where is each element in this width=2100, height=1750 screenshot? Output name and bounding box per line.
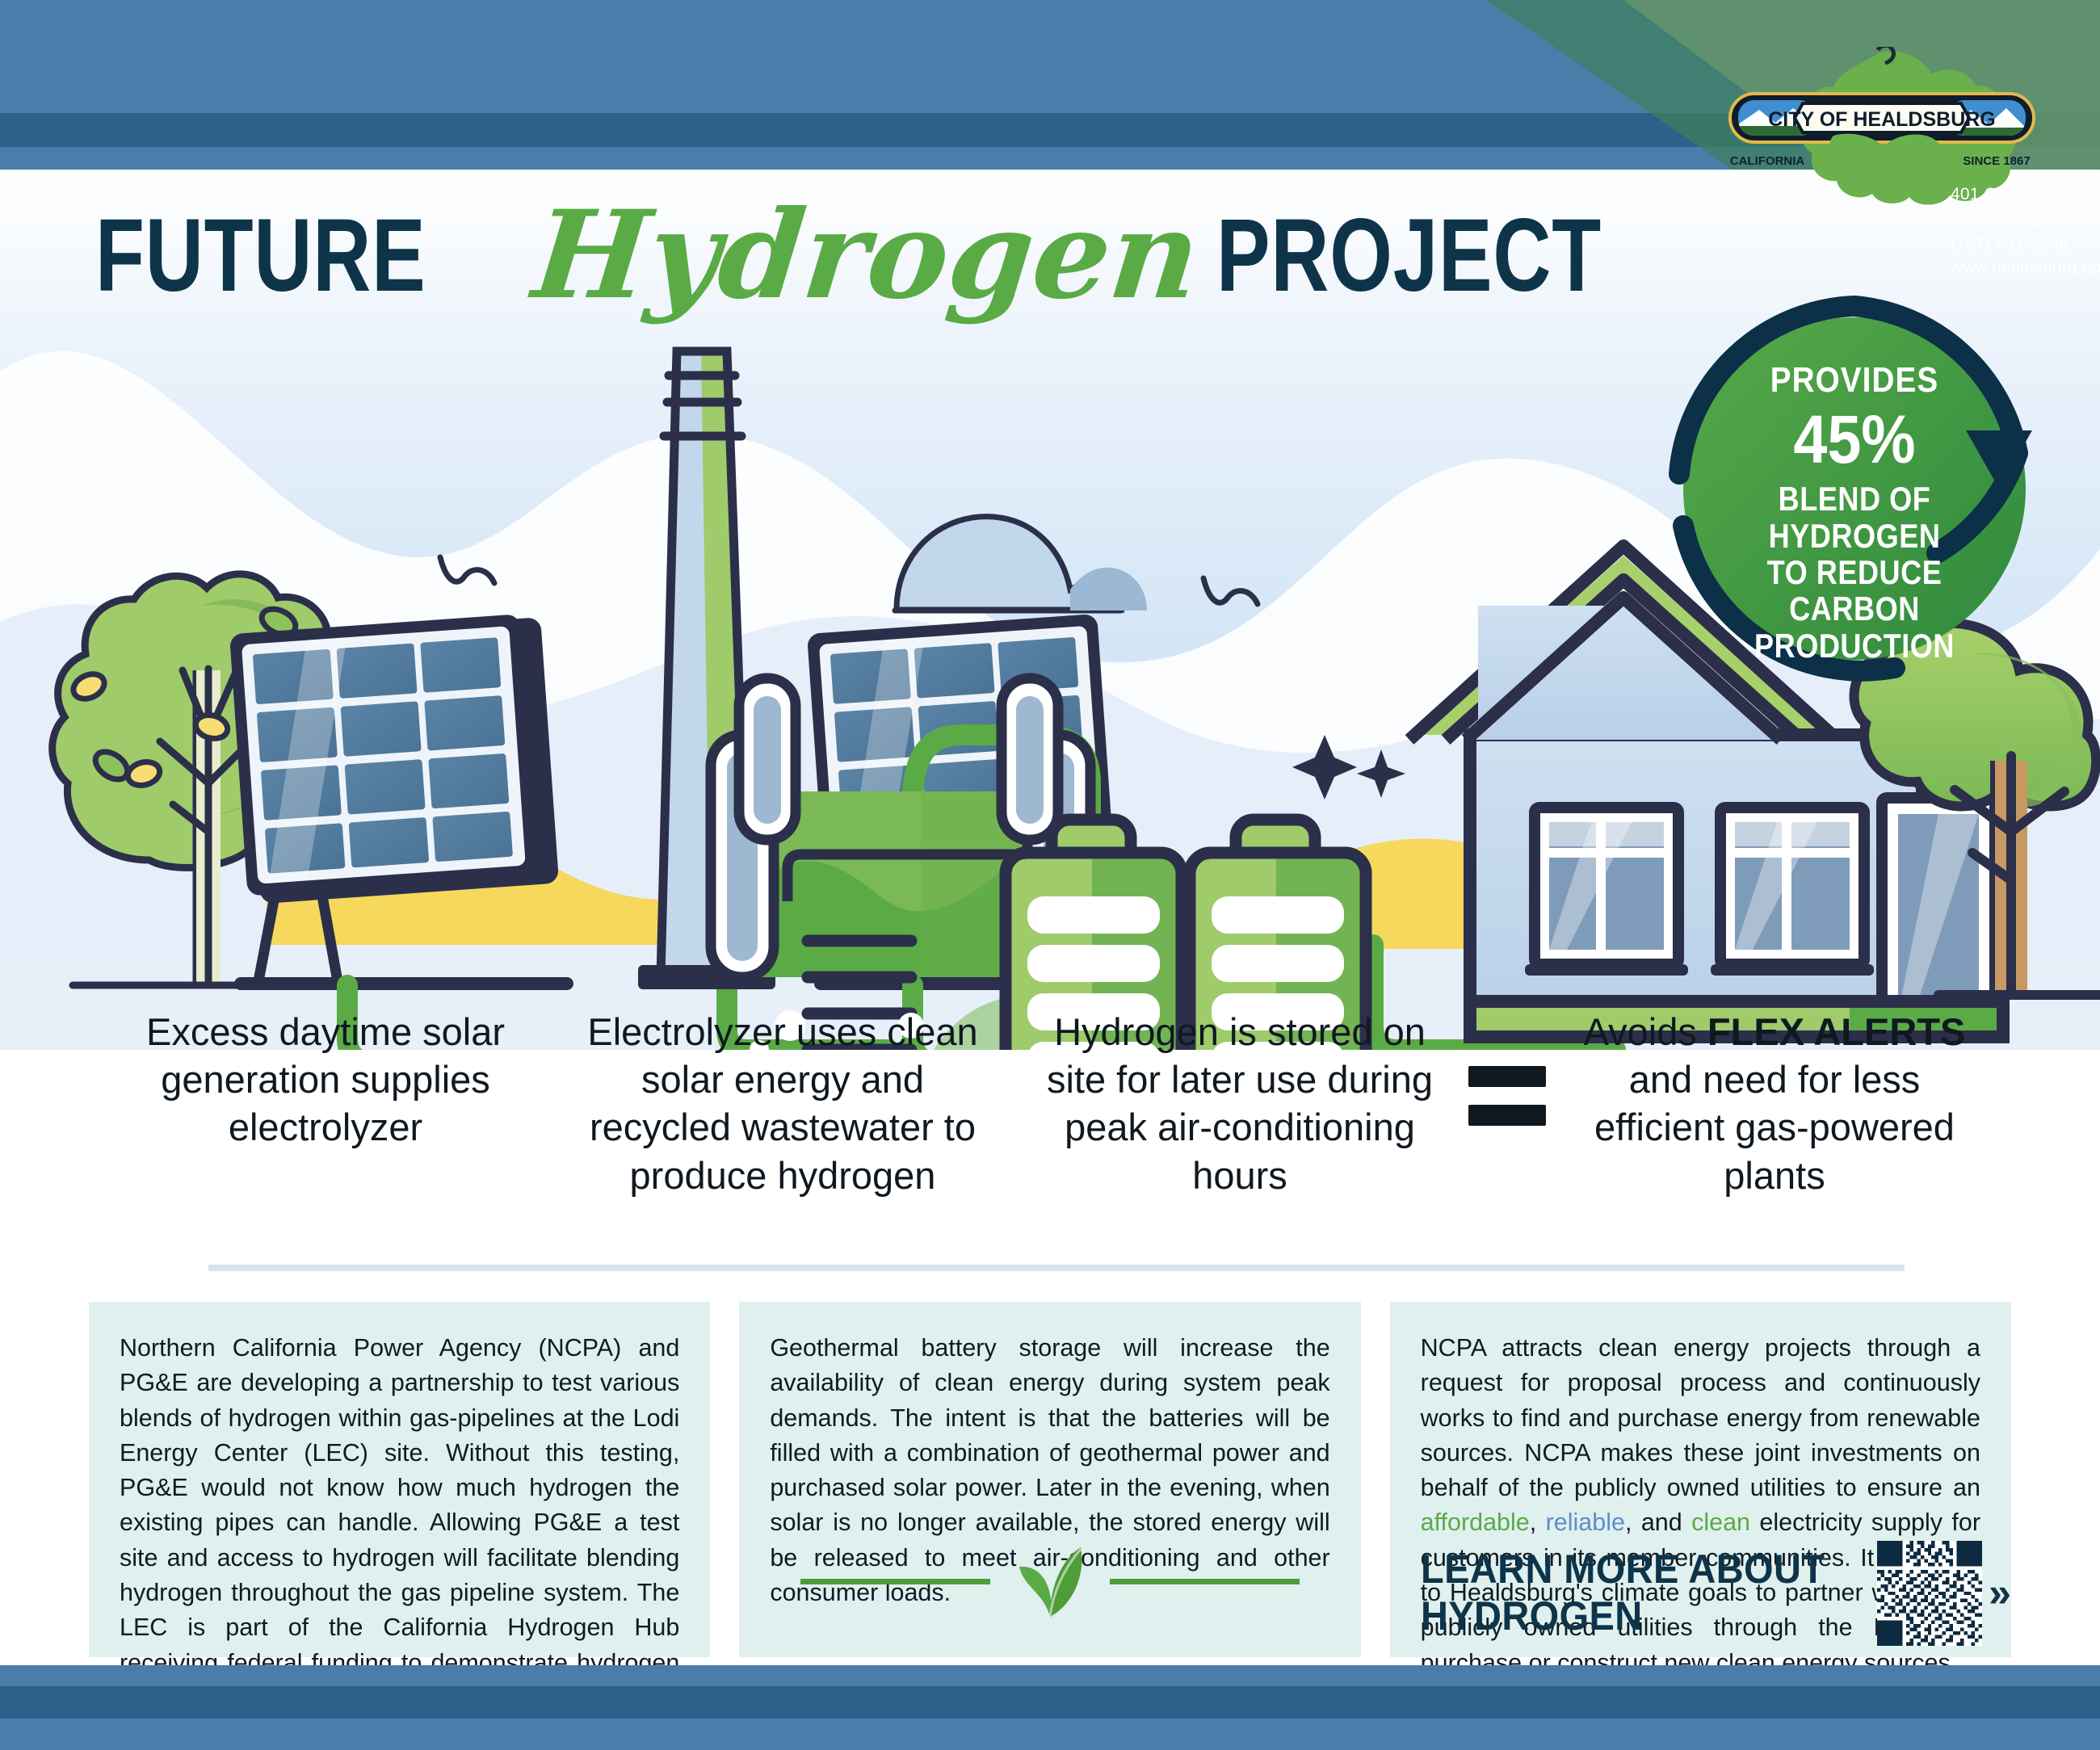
address-line-2: Healdsburg, CA 95448 [1951, 207, 2100, 231]
leaf-icon [1011, 1542, 1089, 1620]
title-word-hydrogen: Hydrogen [527, 184, 1206, 326]
caption-flex-prefix: Avoids [1584, 1010, 1707, 1053]
badge-line-provides: PROVIDES [1728, 361, 1980, 400]
bottom-band [0, 1719, 2100, 1750]
caption-flex-alerts: Avoids FLEX ALERTS and need for less eff… [1546, 1008, 2003, 1199]
card3-sep2: , and [1625, 1509, 1691, 1536]
badge-line-production: PRODUCTION [1731, 627, 1978, 664]
info-card-clean-energy: NCPA attracts clean energy projects thro… [1390, 1302, 2011, 1657]
address-website[interactable]: www.healdsburg.gov [1951, 256, 2100, 280]
address-line-1: 401 Grove Street [1951, 183, 2100, 207]
word-reliable: reliable [1546, 1509, 1625, 1536]
leaf-line-right [1110, 1579, 1300, 1584]
double-chevron-right-icon: » [1989, 1569, 2011, 1616]
city-logo-block: CITY OF HEALDSBURG CALIFORNIA SINCE 1867… [1712, 47, 2092, 249]
word-clean: clean [1691, 1509, 1750, 1536]
badge-text-block: PROVIDES 45% BLEND OF HYDROGEN TO REDUCE… [1711, 361, 1998, 664]
address-phone: (707) 431-3346 [1951, 232, 2100, 256]
bottom-band-light [0, 1665, 2100, 1686]
caption-flex-suffix: and need for less efficient gas-powered … [1594, 1058, 1955, 1196]
logo-banner-text: CITY OF HEALDSBURG [1768, 108, 1996, 131]
title-word-project: PROJECT [1216, 196, 1602, 315]
process-captions: Excess daytime solar generation supplies… [97, 1008, 2003, 1242]
word-affordable: affordable [1421, 1509, 1530, 1536]
card3-part1: NCPA attracts clean energy projects thro… [1421, 1334, 1980, 1501]
caption-solar: Excess daytime solar generation supplies… [97, 1008, 554, 1152]
caption-divider [208, 1265, 1905, 1271]
address-block: 401 Grove Street Healdsburg, CA 95448 (7… [1951, 183, 2100, 281]
badge-line-reduce: TO REDUCE CARBON [1731, 554, 1978, 627]
logo-right-caption: SINCE 1867 [1963, 154, 2030, 168]
caption-storage: Hydrogen is stored on site for later use… [1011, 1008, 1468, 1199]
learn-more-label: LEARN MORE ABOUT HYDROGEN [1421, 1546, 1938, 1639]
badge-line-blend: BLEND OF HYDROGEN [1731, 481, 1978, 554]
equals-icon [1468, 1008, 1546, 1126]
qr-code-icon[interactable] [1877, 1541, 1982, 1646]
page-title: FUTURE Hydrogen PROJECT [95, 184, 1711, 326]
bottom-band-dark [0, 1686, 2100, 1719]
card3-sep1: , [1530, 1509, 1546, 1536]
leaf-line-left [800, 1579, 990, 1584]
info-cards: Northern California Power Agency (NCPA) … [89, 1302, 2011, 1657]
card1-body: Northern California Power Agency (NCPA) … [120, 1331, 679, 1715]
logo-left-caption: CALIFORNIA [1730, 154, 1805, 168]
badge-value-percent: 45% [1725, 403, 1984, 476]
title-word-future: FUTURE [95, 196, 426, 315]
caption-flex-bold: FLEX ALERTS [1707, 1010, 1965, 1053]
caption-electrolyzer: Electrolyzer uses clean solar energy and… [554, 1008, 1011, 1199]
hydrogen-blend-badge: PROVIDES 45% BLEND OF HYDROGEN TO REDUCE… [1653, 287, 2056, 690]
info-card-ncpa-pge: Northern California Power Agency (NCPA) … [89, 1302, 710, 1657]
info-card-geothermal: Geothermal battery storage will increase… [739, 1302, 1360, 1657]
leaf-divider [739, 1542, 1360, 1620]
